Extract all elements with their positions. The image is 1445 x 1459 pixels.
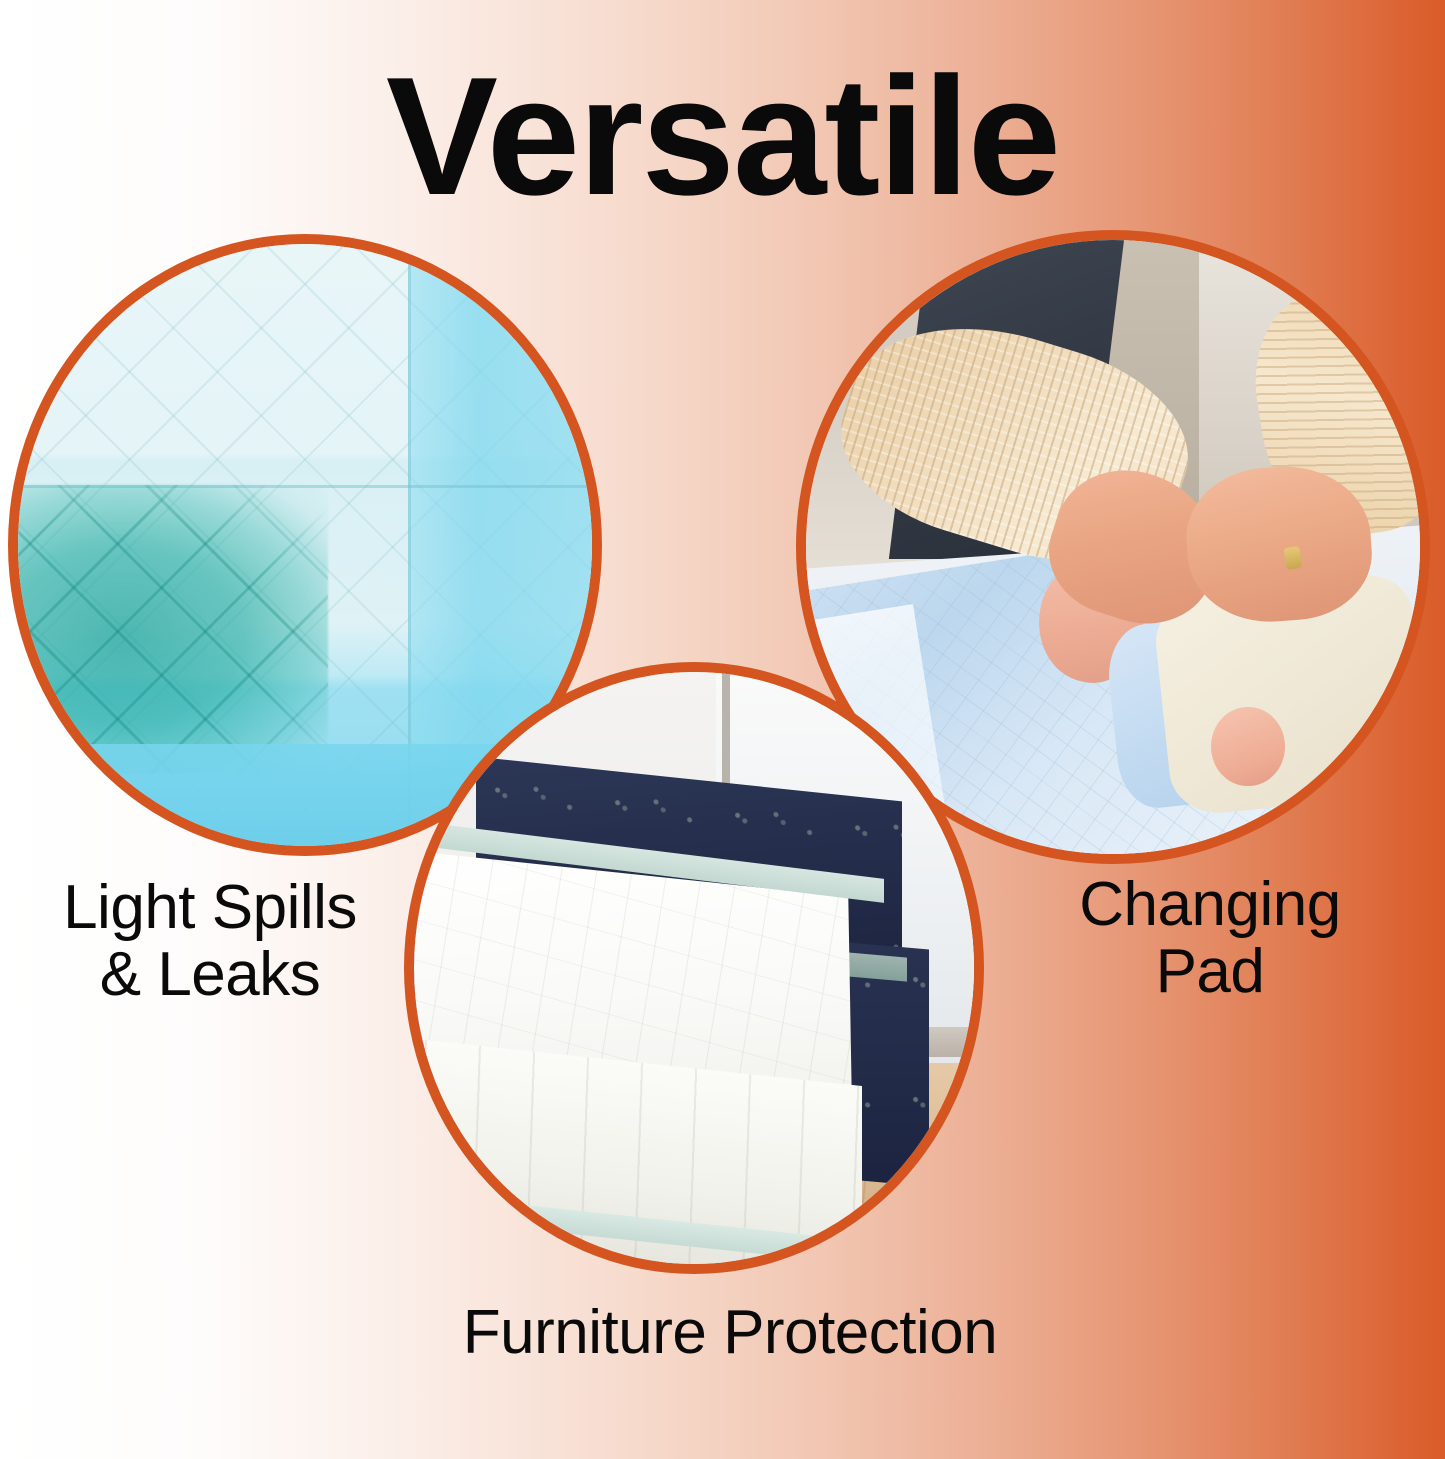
page-title: Versatile (0, 52, 1445, 220)
feature-label-furniture-protection: Furniture Protection (310, 1300, 1150, 1367)
feature-circle-furniture-protection (404, 662, 984, 1274)
versatile-infographic: Versatile (0, 0, 1445, 1459)
feature-label-changing-pad: Changing Pad (1010, 872, 1410, 1006)
feature-label-light-spills-leaks: Light Spills & Leaks (0, 875, 420, 1009)
baby-hand (1211, 707, 1285, 787)
absorbed-liquid-quilt (18, 485, 328, 774)
photo-furniture-protection (414, 672, 974, 1264)
wedding-ring (1283, 546, 1303, 570)
